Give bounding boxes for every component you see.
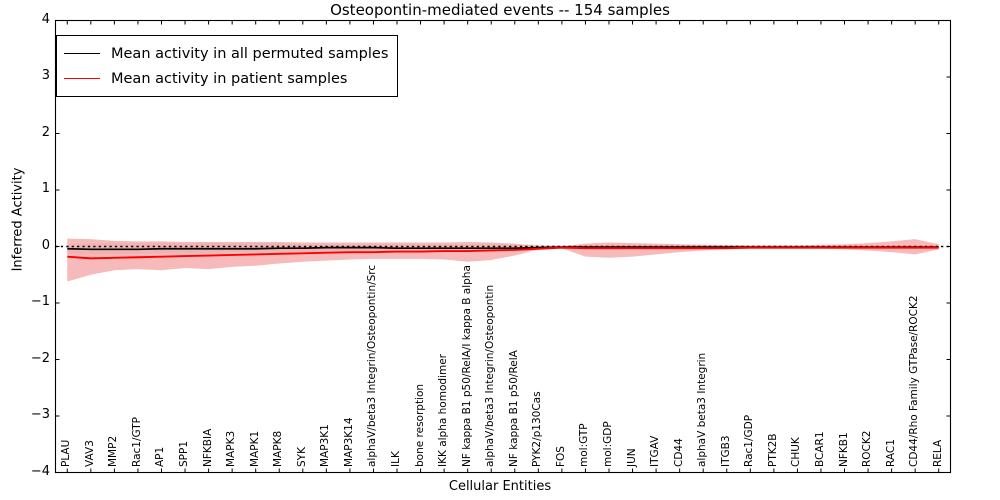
legend-line-permuted-icon <box>64 53 100 54</box>
legend-line-patient-icon <box>64 78 100 79</box>
chart-figure: Osteopontin-mediated events -- 154 sampl… <box>0 0 1000 500</box>
legend-item-patient: Mean activity in patient samples <box>64 66 388 91</box>
chart-legend: Mean activity in all permuted samples Me… <box>56 35 398 97</box>
legend-label-permuted: Mean activity in all permuted samples <box>111 46 388 62</box>
legend-label-patient: Mean activity in patient samples <box>111 71 347 87</box>
legend-item-permuted: Mean activity in all permuted samples <box>64 41 388 66</box>
